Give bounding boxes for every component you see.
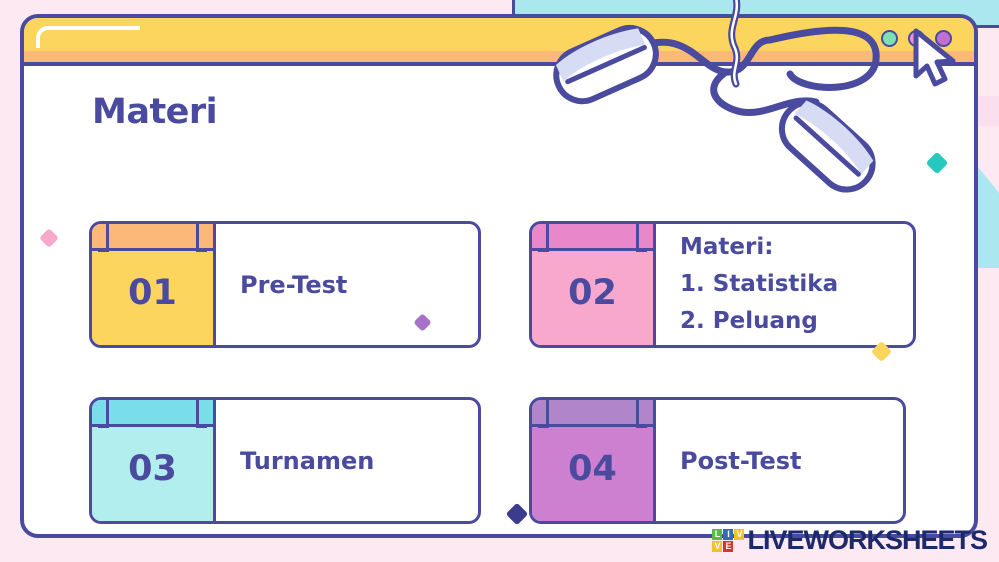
logo-cell-v: V xyxy=(734,529,744,540)
card-number: 02 xyxy=(568,273,617,313)
card-number-tab xyxy=(92,224,213,251)
card-number: 01 xyxy=(128,273,177,313)
page-title: Materi xyxy=(92,92,217,132)
card-number: 04 xyxy=(568,449,617,489)
card-label: Post-Test xyxy=(680,449,903,473)
card-materi[interactable]: 02 Materi: 1. Statistika 2. Peluang xyxy=(529,221,916,348)
card-label-item-1: 1. Statistika xyxy=(680,266,913,303)
card-turnamen[interactable]: 03 Turnamen xyxy=(89,397,481,524)
card-label: Pre-Test xyxy=(240,273,478,297)
card-number-block: 01 xyxy=(92,224,216,345)
window-dot-green-icon[interactable] xyxy=(881,30,898,47)
logo-cell-empty xyxy=(734,541,744,552)
screenshot-root: Materi 01 Pre-Test 02 Materi: xyxy=(0,0,999,562)
card-label: Materi: xyxy=(680,229,913,266)
window-titlebar xyxy=(24,18,974,66)
titlebar-highlight xyxy=(36,26,140,48)
logo-cell-l: L xyxy=(712,529,722,540)
liveworksheets-wordmark: LIVEWORKSHEETS xyxy=(747,525,987,556)
logo-cell-e: E xyxy=(723,541,733,552)
logo-cell-v2: V xyxy=(712,541,722,552)
card-body: Pre-Test xyxy=(216,224,478,345)
card-body: Turnamen xyxy=(216,400,478,521)
card-number-tab xyxy=(532,224,653,251)
card-number-tab xyxy=(532,400,653,427)
mouse-cursor-icon xyxy=(910,28,964,90)
liveworksheets-logo: L I V V E LIVEWORKSHEETS xyxy=(712,525,987,556)
card-body: Materi: 1. Statistika 2. Peluang xyxy=(656,224,913,345)
card-body: Post-Test xyxy=(656,400,903,521)
card-number-block: 04 xyxy=(532,400,656,521)
window-content: Materi 01 Pre-Test 02 Materi: xyxy=(24,66,974,534)
card-number-block: 02 xyxy=(532,224,656,345)
card-label: Turnamen xyxy=(240,449,478,473)
card-number: 03 xyxy=(128,449,177,489)
app-window: Materi 01 Pre-Test 02 Materi: xyxy=(20,14,978,538)
liveworksheets-mark-icon: L I V V E xyxy=(712,529,744,552)
logo-cell-i: I xyxy=(723,529,733,540)
card-label-item-2: 2. Peluang xyxy=(680,303,913,340)
card-post-test[interactable]: 04 Post-Test xyxy=(529,397,906,524)
card-number-block: 03 xyxy=(92,400,216,521)
card-number-tab xyxy=(92,400,213,427)
